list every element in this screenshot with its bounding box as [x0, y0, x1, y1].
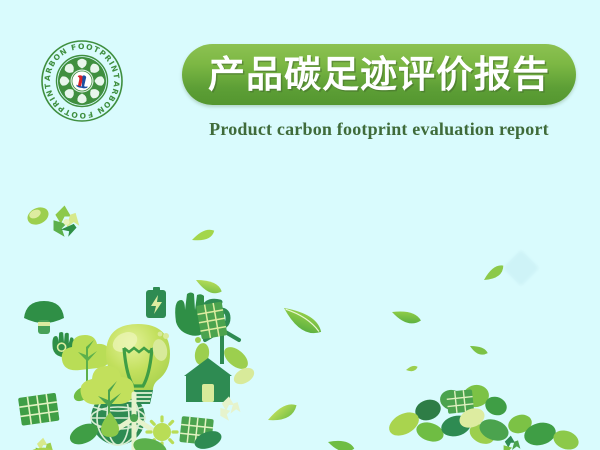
battery-icon	[146, 287, 166, 318]
carbon-footprint-seal-logo: CARBON FOOTPRINT · CARBON FOOTPRINT ·	[40, 39, 124, 123]
leaf-icon	[406, 365, 419, 372]
leaf-icon	[25, 204, 52, 228]
recycle-icon	[54, 206, 80, 237]
report-title-pill: 产品碳足迹评价报告	[182, 44, 576, 105]
leaf-icon	[265, 402, 299, 425]
leaf-icon	[481, 263, 506, 283]
leaf-icon	[390, 306, 422, 327]
page-title: 产品碳足迹评价报告	[208, 56, 550, 93]
house-icon	[184, 358, 232, 402]
leaf-icon	[280, 301, 324, 340]
report-cover-slide: CARBON FOOTPRINT · CARBON FOOTPRINT ·	[0, 0, 600, 450]
solar-panel-icon	[18, 393, 60, 426]
report-subtitle: Product carbon footprint evaluation repo…	[182, 119, 576, 140]
mushroom-cloud-icon	[24, 301, 64, 334]
leaf-icon	[190, 228, 215, 244]
leaf-icon	[194, 274, 223, 297]
leaf-icon	[469, 342, 489, 357]
leaf-icon	[327, 437, 356, 450]
eco-icons-footprint-collage	[0, 180, 600, 450]
